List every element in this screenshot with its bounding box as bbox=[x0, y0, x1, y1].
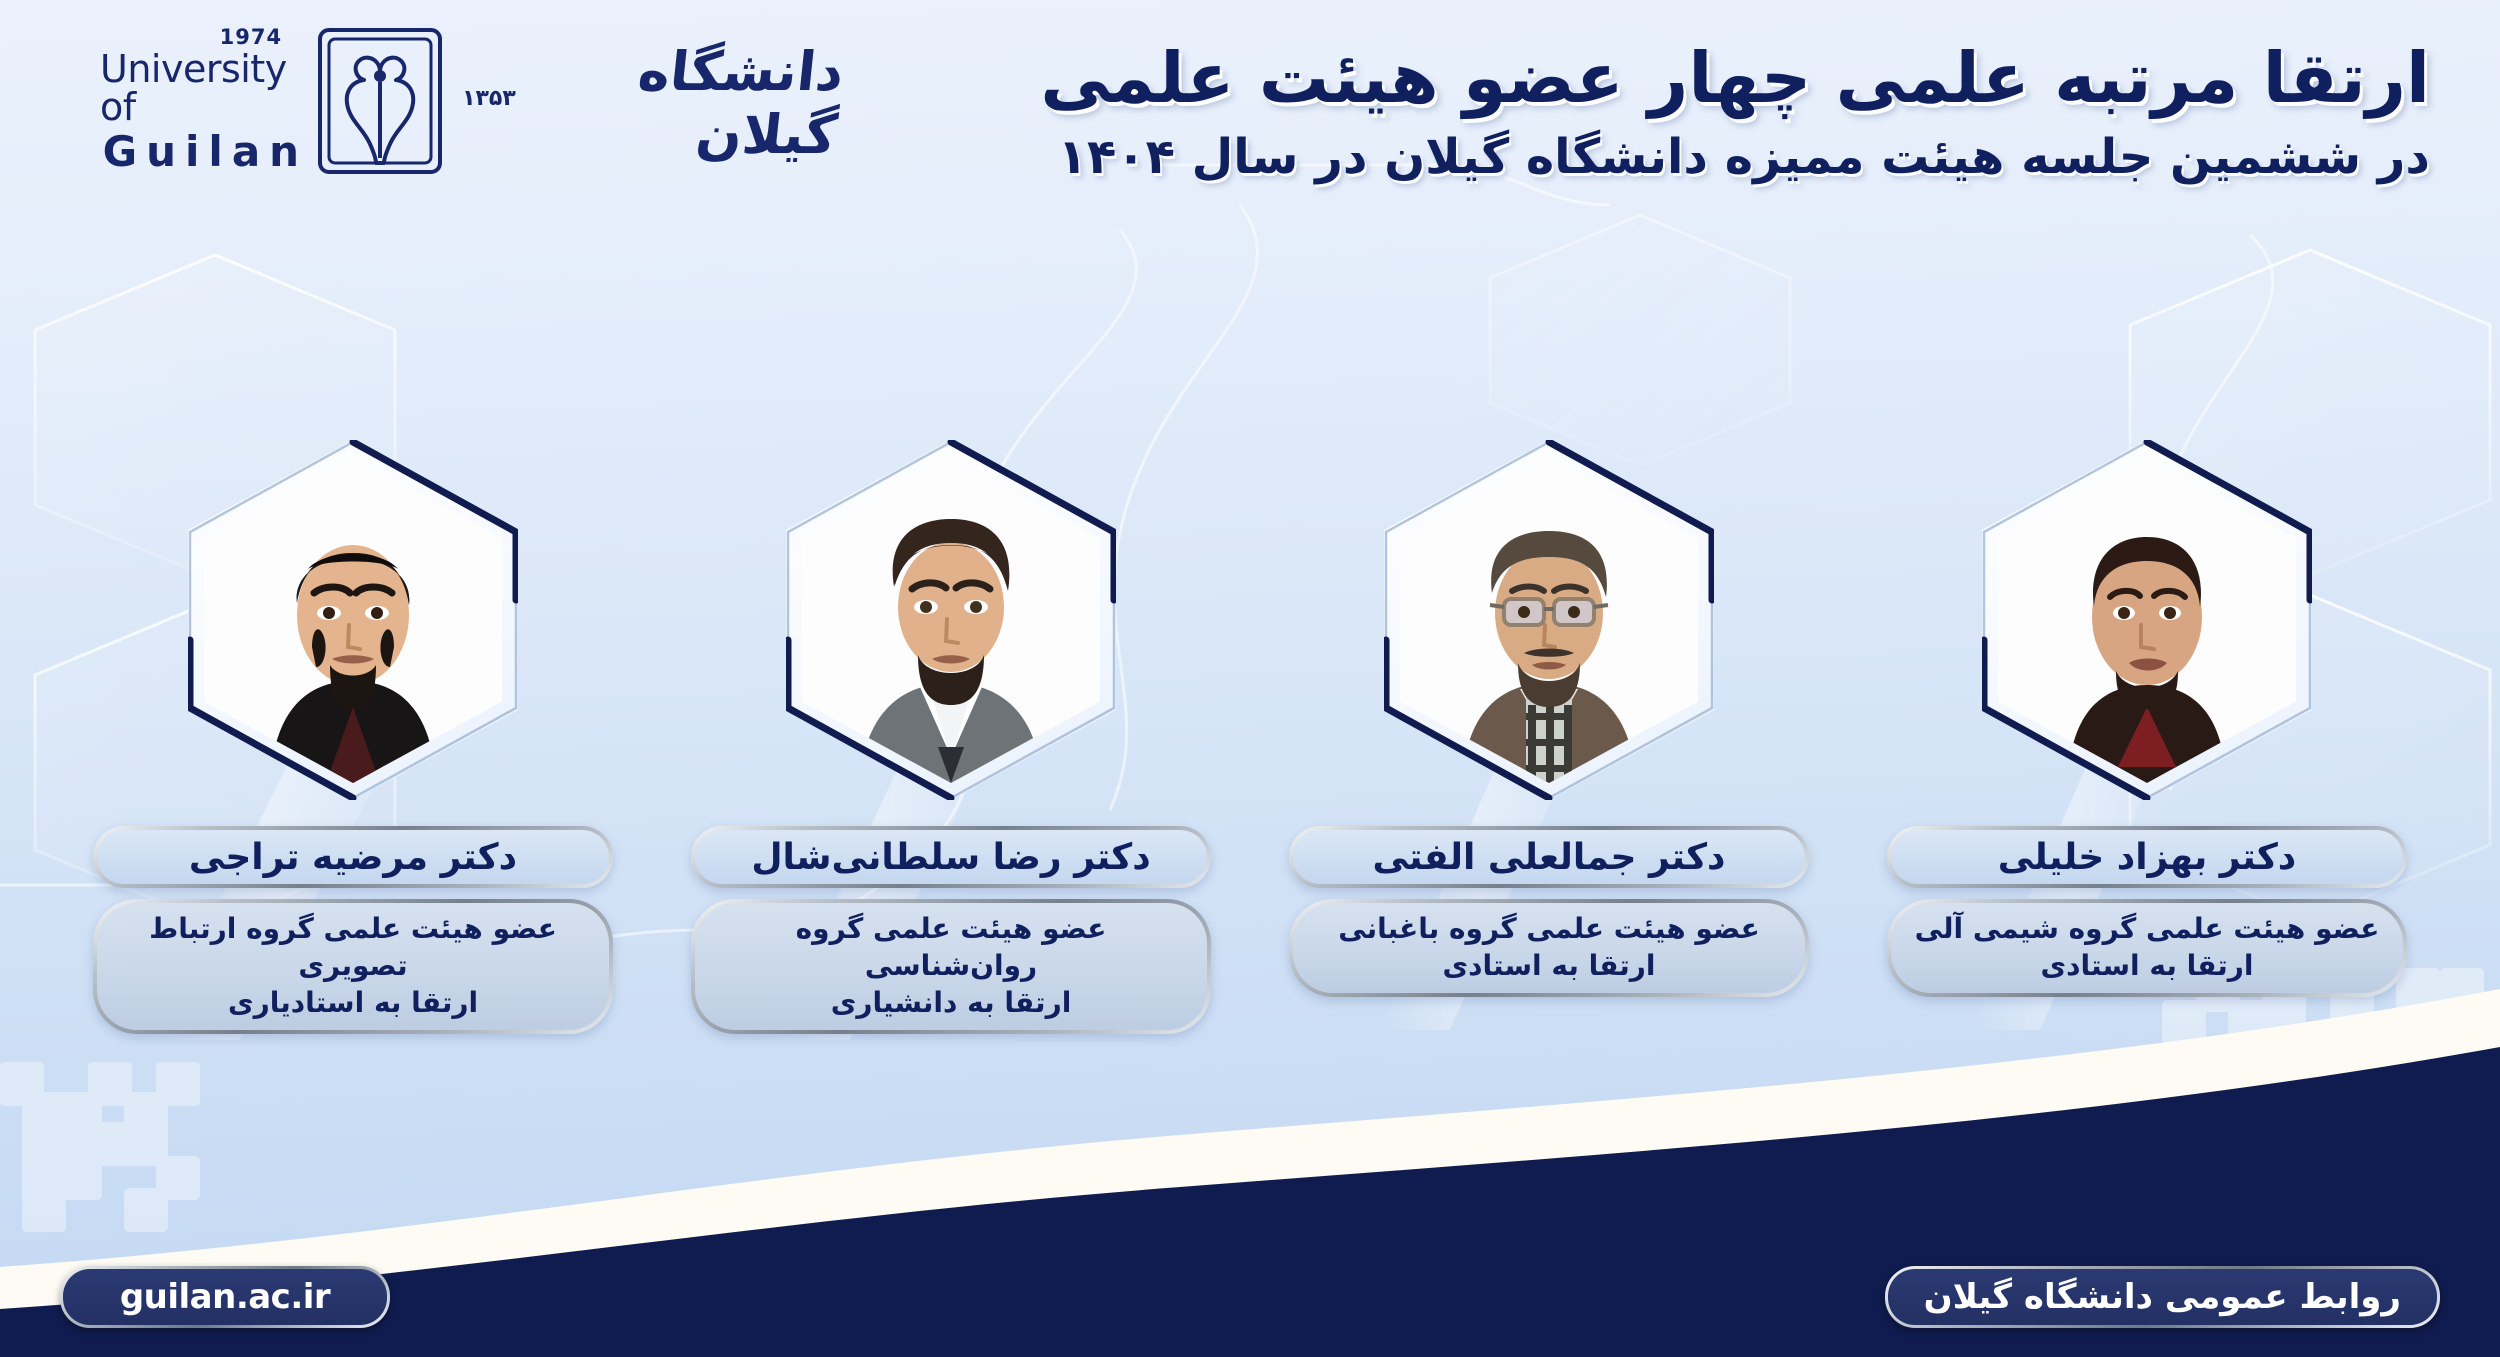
faculty-department: عضو هیئت علمی گروه روان‌شناسی bbox=[715, 911, 1187, 985]
faculty-role: عضو هیئت علمی گروه باغبانی ارتقا به استا… bbox=[1289, 899, 1809, 997]
logo-persian-block: ۱۳۵۳ دانشگاه گیلان bbox=[452, 40, 840, 166]
faculty-promotion: ارتقا به استادی bbox=[2041, 948, 2254, 985]
poster-footer: روابط عمومی دانشگاه گیلان guilan.ac.ir bbox=[0, 1237, 2500, 1357]
logo-university-name-fa: دانشگاه گیلان bbox=[517, 40, 846, 166]
faculty-list: دکتر بهزاد خلیلی عضو هیئت علمی گروه شیمی… bbox=[0, 440, 2500, 1060]
faculty-role: عضو هیئت علمی گروه شیمی آلی ارتقا به است… bbox=[1887, 899, 2407, 997]
faculty-name: دکتر مرضیه تراجی bbox=[93, 826, 613, 888]
poster-subtitle: در ششمین جلسه هیئت ممیزه دانشگاه گیلان د… bbox=[850, 127, 2430, 187]
website-badge[interactable]: guilan.ac.ir bbox=[60, 1266, 390, 1328]
faculty-department: عضو هیئت علمی گروه ارتباط تصویری bbox=[117, 911, 589, 985]
faculty-promotion: ارتقا به استادیاری bbox=[228, 985, 478, 1022]
faculty-role: عضو هیئت علمی گروه ارتباط تصویری ارتقا ب… bbox=[93, 899, 613, 1034]
faculty-department: عضو هیئت علمی گروه شیمی آلی bbox=[1915, 911, 2380, 948]
faculty-card: دکتر مرضیه تراجی عضو هیئت علمی گروه ارتب… bbox=[78, 440, 628, 1034]
title-block: ارتقا مرتبه علمی چهار عضو هیئت علمی در ش… bbox=[850, 36, 2430, 187]
poster-title: ارتقا مرتبه علمی چهار عضو هیئت علمی bbox=[850, 36, 2430, 121]
faculty-name: دکتر رضا سلطانی‌شال bbox=[691, 826, 1211, 888]
hex-ring-icon bbox=[1384, 440, 1714, 800]
university-emblem-icon bbox=[316, 26, 444, 180]
logo-university-word: University of bbox=[100, 50, 308, 126]
faculty-name: دکتر بهزاد خلیلی bbox=[1887, 826, 2407, 888]
faculty-card: دکتر رضا سلطانی‌شال عضو هیئت علمی گروه ر… bbox=[676, 440, 1226, 1034]
pixel-grid-left bbox=[0, 1062, 200, 1232]
faculty-promotion: ارتقا به دانشیاری bbox=[831, 985, 1072, 1022]
logo-guilan-word: Guilan bbox=[103, 131, 308, 173]
logo-english-block: 1974 University of Guilan bbox=[100, 27, 308, 179]
hex-ring-icon bbox=[188, 440, 518, 800]
portrait-frame bbox=[1384, 440, 1714, 800]
hex-ring-icon bbox=[1982, 440, 2312, 800]
logo-founding-year-en: 1974 bbox=[220, 27, 282, 48]
public-relations-badge: روابط عمومی دانشگاه گیلان bbox=[1885, 1266, 2440, 1328]
poster-canvas: 1974 University of Guilan ۱۳۵۳ دانشگاه گ… bbox=[0, 0, 2500, 1357]
poster-header: 1974 University of Guilan ۱۳۵۳ دانشگاه گ… bbox=[0, 0, 2500, 230]
portrait-frame bbox=[188, 440, 518, 800]
portrait-frame bbox=[786, 440, 1116, 800]
logo-founding-year-fa: ۱۳۵۳ bbox=[462, 86, 516, 111]
hex-ring-icon bbox=[786, 440, 1116, 800]
faculty-department: عضو هیئت علمی گروه باغبانی bbox=[1338, 911, 1759, 948]
university-logo: 1974 University of Guilan ۱۳۵۳ دانشگاه گ… bbox=[100, 28, 840, 178]
portrait-frame bbox=[1982, 440, 2312, 800]
faculty-name: دکتر جمالعلی الفتی bbox=[1289, 826, 1809, 888]
faculty-card: دکتر بهزاد خلیلی عضو هیئت علمی گروه شیمی… bbox=[1872, 440, 2422, 997]
faculty-promotion: ارتقا به استادی bbox=[1443, 948, 1656, 985]
faculty-role: عضو هیئت علمی گروه روان‌شناسی ارتقا به د… bbox=[691, 899, 1211, 1034]
faculty-card: دکتر جمالعلی الفتی عضو هیئت علمی گروه با… bbox=[1274, 440, 1824, 997]
